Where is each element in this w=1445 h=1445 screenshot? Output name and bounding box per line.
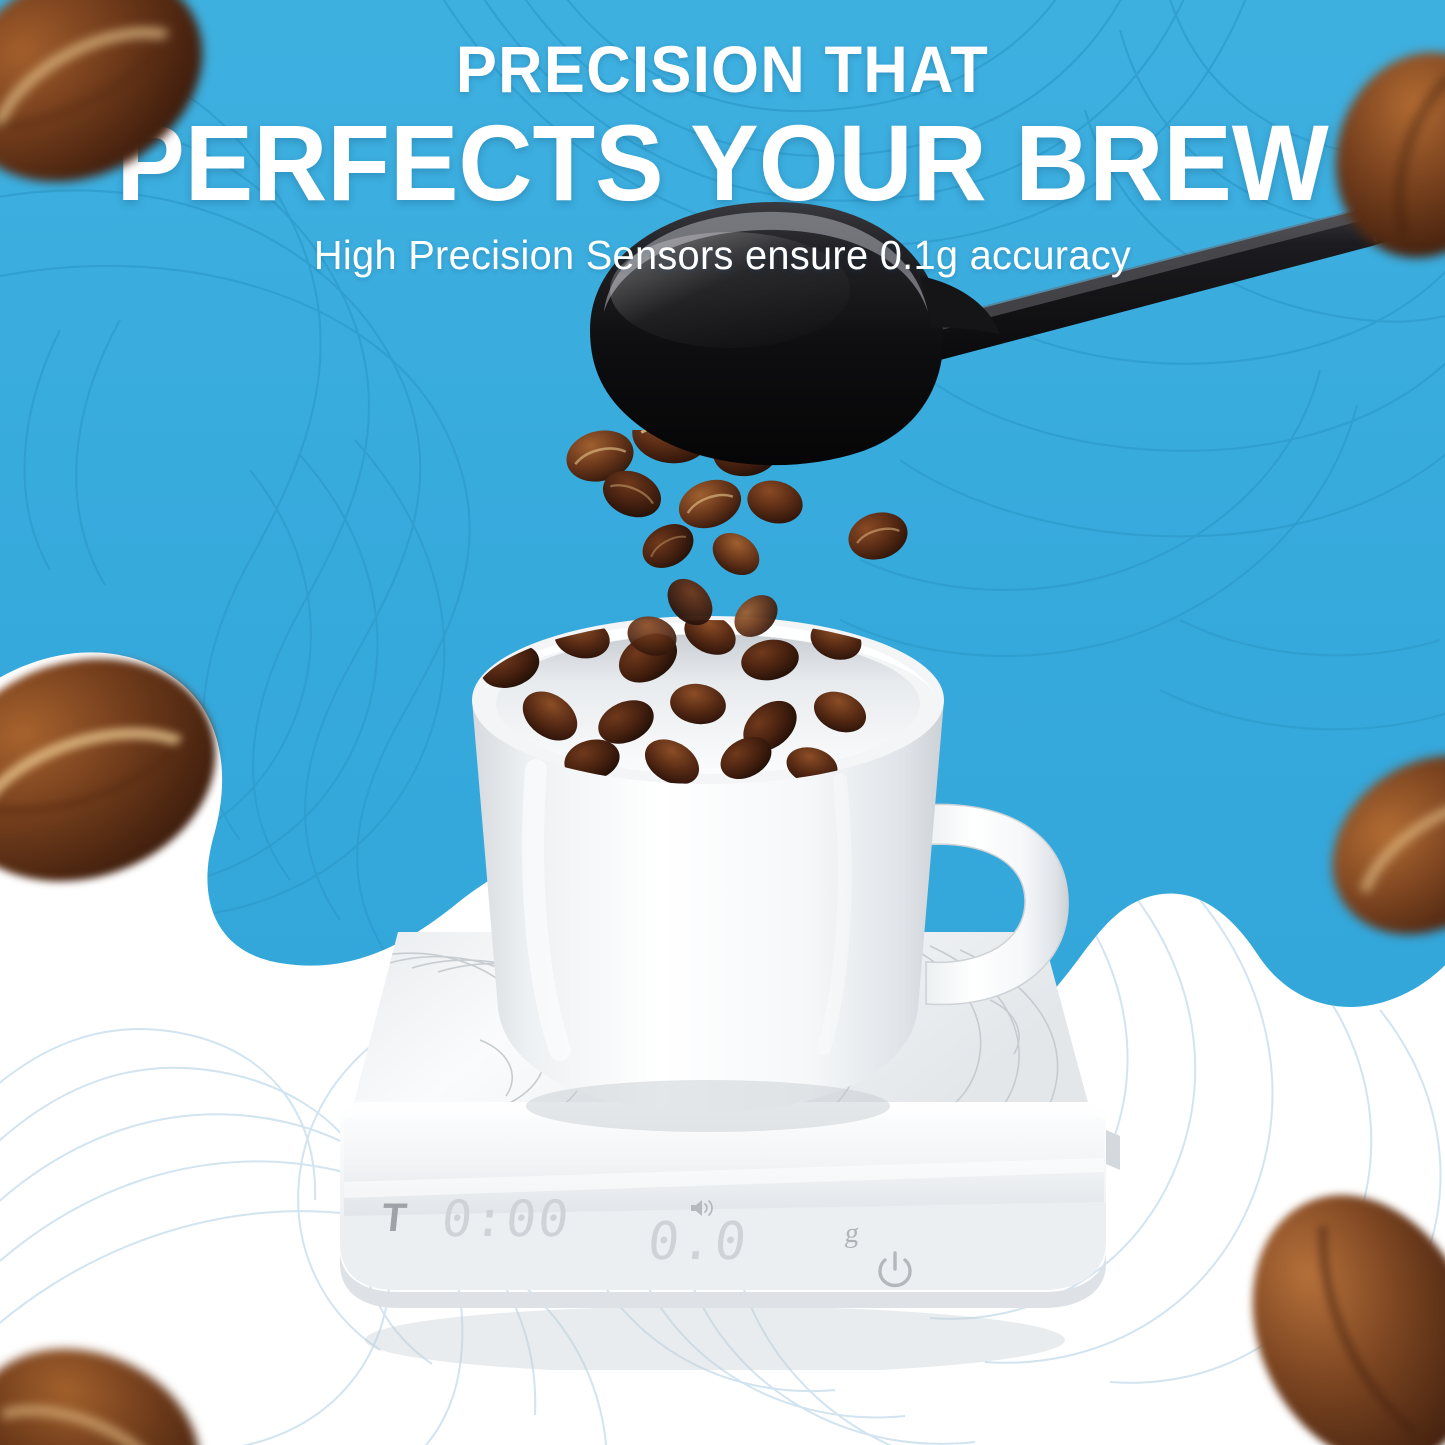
coffee-bean-decor-bottom-left [0, 1330, 210, 1445]
coffee-bean-decor-top-left [0, 0, 220, 205]
timer-readout: 0:00 [439, 1190, 574, 1248]
coffee-bean-decor-left [0, 630, 230, 910]
weight-readout: 0.0 [645, 1212, 751, 1272]
tare-indicator: T [380, 1196, 409, 1241]
coffee-bean-decor-bottom-right [1235, 1180, 1445, 1445]
power-icon[interactable] [872, 1248, 918, 1294]
speaker-icon [688, 1196, 718, 1220]
coffee-bean-decor-top-right [1330, 45, 1445, 265]
product-banner: T 0:00 0.0 g PRECISION THAT PERFECTS YOU… [0, 0, 1445, 1445]
coffee-bean-decor-right [1330, 730, 1445, 960]
measuring-scoop [560, 180, 1445, 540]
